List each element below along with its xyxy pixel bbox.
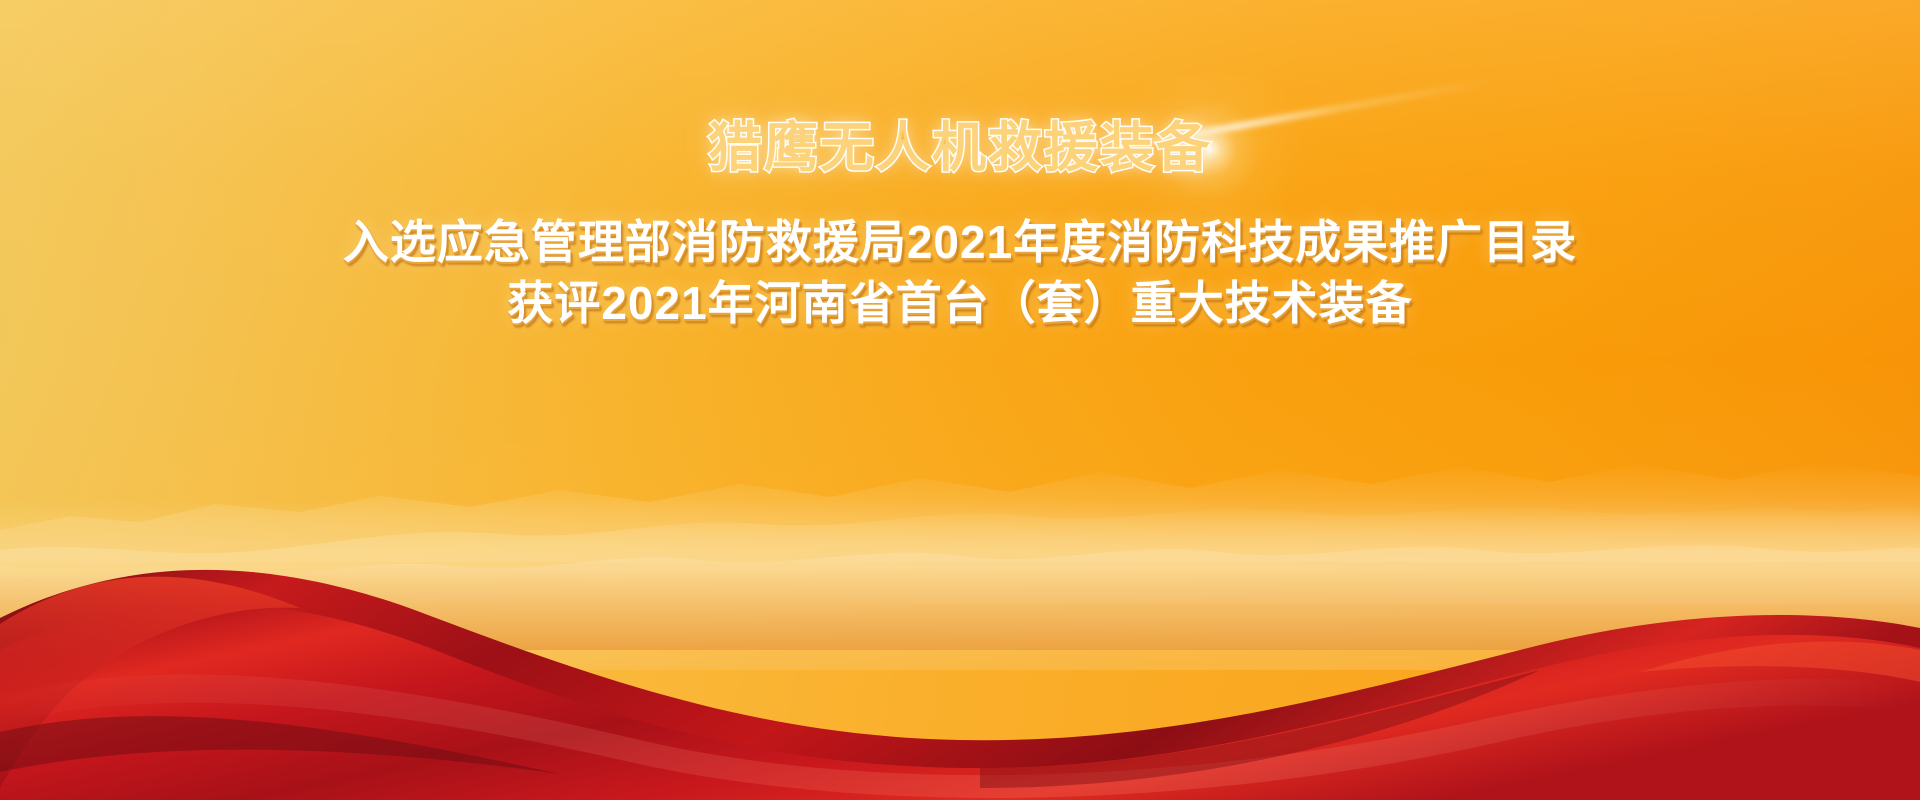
subtitle-group: 入选应急管理部消防救援局2021年度消防科技成果推广目录 获评2021年河南省首… bbox=[0, 212, 1920, 333]
subtitle-line-2: 获评2021年河南省首台（套）重大技术装备 bbox=[0, 273, 1920, 334]
mountain-layer-mid bbox=[0, 454, 1920, 604]
mountain-layer-far bbox=[0, 412, 1920, 562]
promo-banner: 猎鹰无人机救援装备 入选应急管理部消防救援局2021年度消防科技成果推广目录 获… bbox=[0, 0, 1920, 800]
subtitle-line-1: 入选应急管理部消防救援局2021年度消防科技成果推广目录 bbox=[0, 212, 1920, 273]
page-title: 猎鹰无人机救援装备 bbox=[708, 121, 1212, 175]
title-area: 猎鹰无人机救援装备 bbox=[0, 112, 1920, 184]
mountain-haze bbox=[0, 500, 1920, 670]
mountain-layer-near bbox=[0, 490, 1920, 650]
red-ribbon-decoration bbox=[0, 500, 1920, 800]
banner-content: 猎鹰无人机救援装备 入选应急管理部消防救援局2021年度消防科技成果推广目录 获… bbox=[0, 0, 1920, 333]
